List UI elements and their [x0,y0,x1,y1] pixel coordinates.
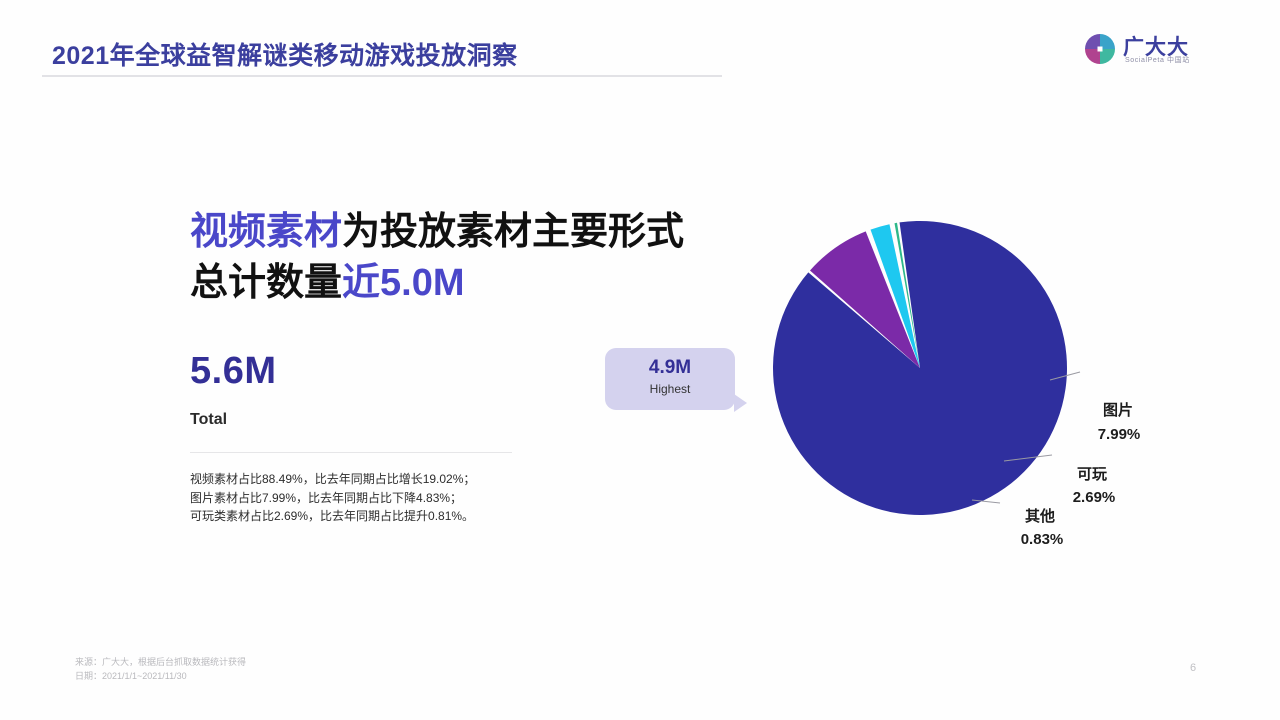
pie-label-other-value: 0.83% [1002,531,1082,548]
pie-chart-svg [755,205,1215,565]
description-line-3: 可玩类素材占比2.69%，比去年同期占比提升0.81%。 [190,507,550,526]
title-divider [42,75,722,77]
callout-label: Highest [605,382,735,396]
pie-label-playable-value: 2.69% [1054,489,1134,506]
headline-line-1: 视频素材为投放素材主要形式 [190,207,770,258]
total-label: Total [190,411,227,429]
footer-date: 日期：2021/1/1~2021/11/30 [75,669,246,683]
page-number: 6 [1190,662,1196,674]
content-divider [190,452,512,453]
pie-label-other-name: 其他 [1012,505,1068,526]
logo-subtitle: SocialPeta 中国站 [1125,55,1190,65]
pie-label-image-name: 图片 [1088,399,1148,420]
description-block: 视频素材占比88.49%，比去年同期占比增长19.02%； 图片素材占比7.99… [190,470,550,526]
headline: 视频素材为投放素材主要形式 总计数量近5.0M [190,207,770,308]
pie-label-playable-name: 可玩 [1064,463,1120,484]
headline-accent-2: 近5.0M [342,262,464,304]
callout-value: 4.9M [605,357,735,379]
headline-accent-1: 视频素材 [190,211,342,253]
footer-source: 来源：广大大，根据后台抓取数据统计获得 [75,655,246,669]
pie-label-image-value: 7.99% [1076,426,1162,443]
pie-chart: 视频 88.49% [755,205,1215,565]
description-line-2: 图片素材占比7.99%，比去年同期占比下降4.83%； [190,489,550,508]
brand-logo: 广大大 SocialPeta 中国站 [1085,32,1210,70]
total-value: 5.6M [190,350,276,393]
callout-tail [734,394,747,412]
headline-line-2: 总计数量近5.0M [190,258,770,309]
description-line-1: 视频素材占比88.49%，比去年同期占比增长19.02%； [190,470,550,489]
page-title: 2021年全球益智解谜类移动游戏投放洞察 [52,36,518,72]
headline-rest-1: 为投放素材主要形式 [342,211,684,253]
pie-slices [773,221,1067,515]
slide-header: 2021年全球益智解谜类移动游戏投放洞察 广大大 SocialPeta 中国站 [0,0,1280,92]
logo-circle-icon [1085,34,1115,64]
footer: 来源：广大大，根据后台抓取数据统计获得 日期：2021/1/1~2021/11/… [75,655,246,684]
highest-callout-bubble: 4.9M Highest [605,348,735,410]
slide: 2021年全球益智解谜类移动游戏投放洞察 广大大 SocialPeta 中国站 … [0,0,1280,720]
headline-plain-2: 总计数量 [190,262,342,304]
